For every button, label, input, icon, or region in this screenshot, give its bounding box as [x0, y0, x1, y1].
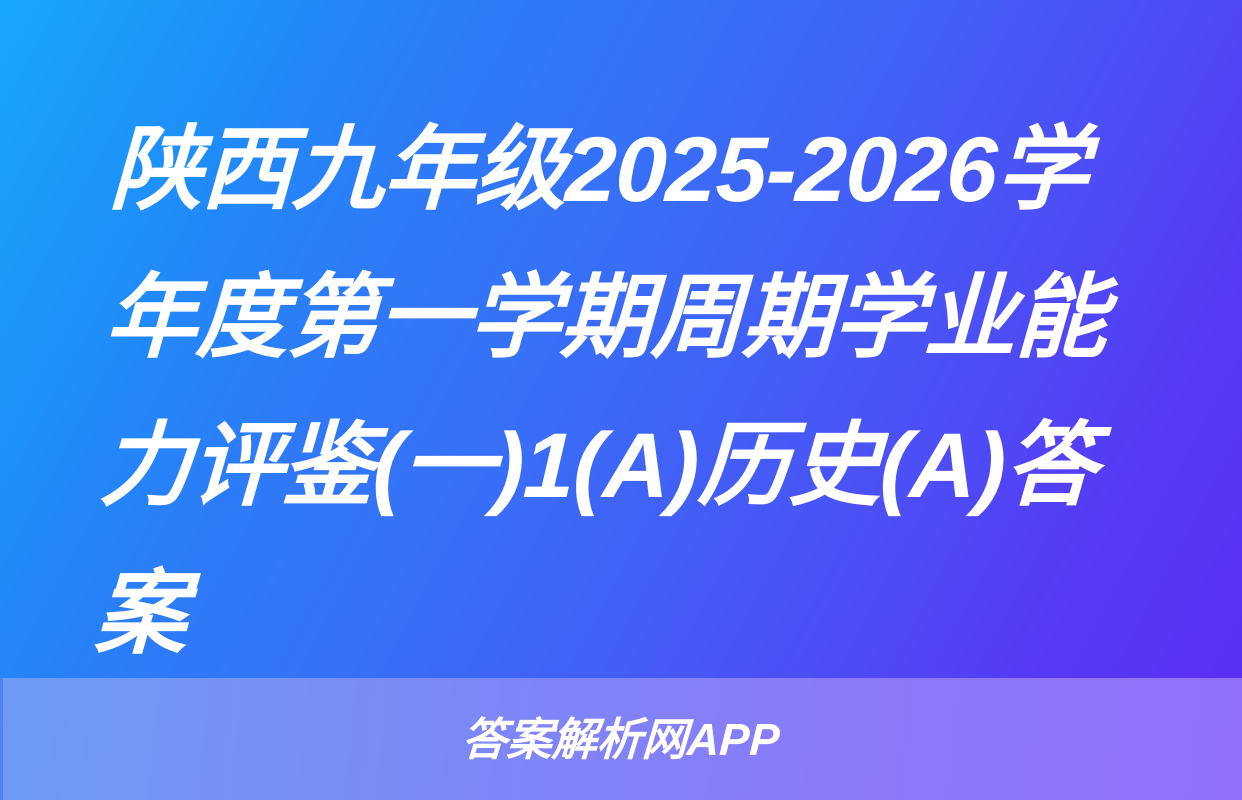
poster-root: 陕西九年级2025-2026学年度第一学期周期学业能力评鉴(一)1(A)历史(A… — [0, 0, 1242, 800]
watermark-label: 答案解析网APP — [461, 717, 781, 762]
title-block: 陕西九年级2025-2026学年度第一学期周期学业能力评鉴(一)1(A)历史(A… — [113, 96, 1175, 688]
watermark-band: 答案解析网APP — [0, 678, 1242, 800]
page-title: 陕西九年级2025-2026学年度第一学期周期学业能力评鉴(一)1(A)历史(A… — [92, 96, 1175, 688]
band-left-edge — [0, 678, 3, 800]
